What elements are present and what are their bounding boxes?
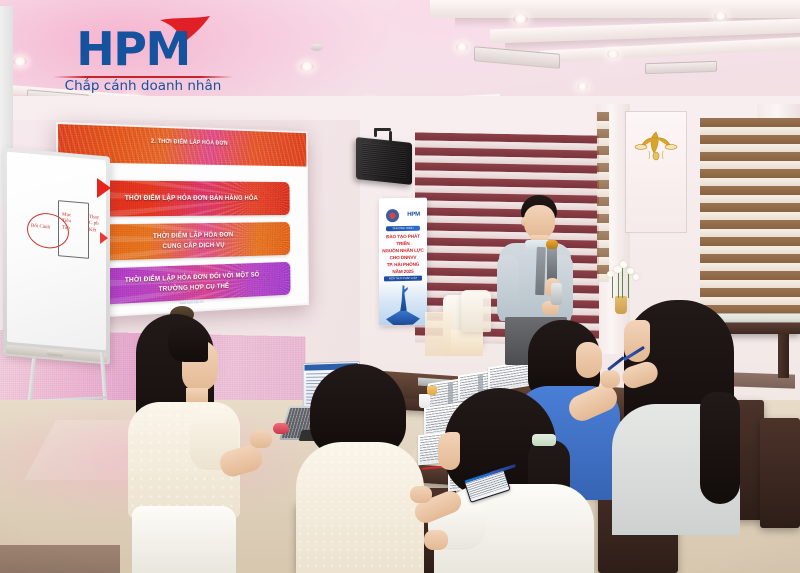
- flower-stem-4: [628, 274, 629, 298]
- pa-speaker: [356, 137, 412, 185]
- standee-brand-label: HPM: [407, 212, 420, 218]
- attendee-4-hair-clip: [532, 434, 556, 446]
- attendee-4-hand-upper: [410, 486, 432, 503]
- pa-speaker-grille: [361, 143, 407, 180]
- smoke-detector: [310, 44, 323, 51]
- presenter-arm-left: [497, 255, 519, 321]
- presenter-face: [524, 205, 555, 239]
- banquet-chair-skirt-2: [425, 312, 451, 356]
- attendee-5-hair-over-shoulder: [700, 392, 740, 504]
- flower-stem-2: [622, 268, 623, 298]
- standee-program-label: CHƯƠNG TRÌNH: [386, 226, 420, 232]
- downlight-3: [456, 43, 468, 51]
- attendee-1-hair-front: [168, 320, 208, 362]
- slide-bar-1: THỜI ĐIỂM LẬP HÓA ĐƠN BÁN HÀNG HÓA: [87, 180, 290, 216]
- slide-bar-2-label: THỜI ĐIỂM LẬP HÓA ĐƠN CUNG CẤP DỊCH VỤ: [153, 230, 234, 252]
- microphone-head: [546, 240, 558, 249]
- hpm-logo: HPM Chắp cánh doanh nhân: [48, 14, 238, 92]
- attendee-1-skirt: [132, 506, 236, 573]
- partner-emblem-icon: [386, 209, 399, 222]
- flower-bloom-3: [607, 271, 614, 277]
- pa-speaker-mount-post: [374, 128, 377, 137]
- flower-bloom-2: [620, 261, 627, 268]
- downlight-6: [577, 83, 588, 90]
- floor-dark-border: [0, 545, 120, 573]
- window-blinds-brown-edge: [597, 112, 609, 292]
- slide-bar-2: THỜI ĐIỂM LẬP HÓA ĐƠN CUNG CẤP DỊCH VỤ: [87, 222, 290, 261]
- slide-red-arrow-marker: [97, 178, 111, 198]
- downlight-1: [300, 62, 314, 71]
- presenter-ear: [521, 217, 527, 226]
- gold-wall-sconce-icon: [632, 126, 680, 162]
- event-standee-banner: HPM CHƯƠNG TRÌNH ĐÀO TẠO PHÁT TRIỂN NGUỒ…: [379, 198, 427, 326]
- attendee-laptop-cream: [128, 306, 268, 573]
- whiteboard-note-2: Mục Tiêu Tập: [62, 212, 71, 232]
- downlight-5: [714, 12, 727, 20]
- whiteboard-note-3: Thay C.ph Kết: [89, 215, 99, 235]
- attendee-4-hand-lower: [424, 530, 448, 550]
- banquet-chair-white-2: [461, 290, 491, 332]
- standee-title-line-1: ĐÀO TẠO PHÁT TRIỂN: [381, 234, 425, 249]
- presenter-remote: [551, 283, 562, 305]
- chair-dark-right-2: [760, 418, 800, 528]
- slide-bar-1-label: THỜI ĐIỂM LẬP HÓA ĐƠN BÁN HÀNG HÓA: [125, 193, 258, 203]
- standee-logo-row: HPM: [382, 208, 424, 223]
- whiteboard: Bối Cảnh Mục Tiêu Tập Thay C.ph Kết: [3, 147, 110, 364]
- standee-program-ribbon: CHƯƠNG TRÌNH: [386, 226, 420, 232]
- attendee-4-face-edge: [438, 432, 460, 470]
- slide-red-arrow-marker-2: [100, 232, 108, 244]
- attendee-3-face: [576, 342, 602, 378]
- downlight-4: [607, 50, 619, 58]
- attendee-gray-top-right: [608, 300, 744, 535]
- wireless-mouse[interactable]: [273, 423, 289, 434]
- hpm-tagline: Chắp cánh doanh nhân: [48, 78, 238, 94]
- whiteboard-surface: Bối Cảnh Mục Tiêu Tập Thay C.ph Kết: [7, 152, 106, 351]
- hpm-wordmark: HPM: [48, 26, 218, 72]
- flower-stem-1: [618, 272, 619, 298]
- flower-bloom-4: [627, 268, 634, 274]
- standee-title: ĐÀO TẠO PHÁT TRIỂN NGUỒN NHÂN LỰC CHO DN…: [381, 234, 425, 277]
- downlight-7: [13, 57, 27, 66]
- ceiling-moulding-outer: [430, 0, 800, 18]
- flower-bloom-5: [633, 274, 639, 280]
- flower-stem-3: [612, 276, 613, 298]
- conference-room-photo: 2. THỜI ĐIỂM LẬP HÓA ĐƠN THỜI ĐIỂM LẬP H…: [0, 0, 800, 573]
- side-table-right-leg-2: [778, 334, 789, 378]
- downlight-2: [513, 14, 528, 24]
- attendee-1-hand: [250, 430, 272, 448]
